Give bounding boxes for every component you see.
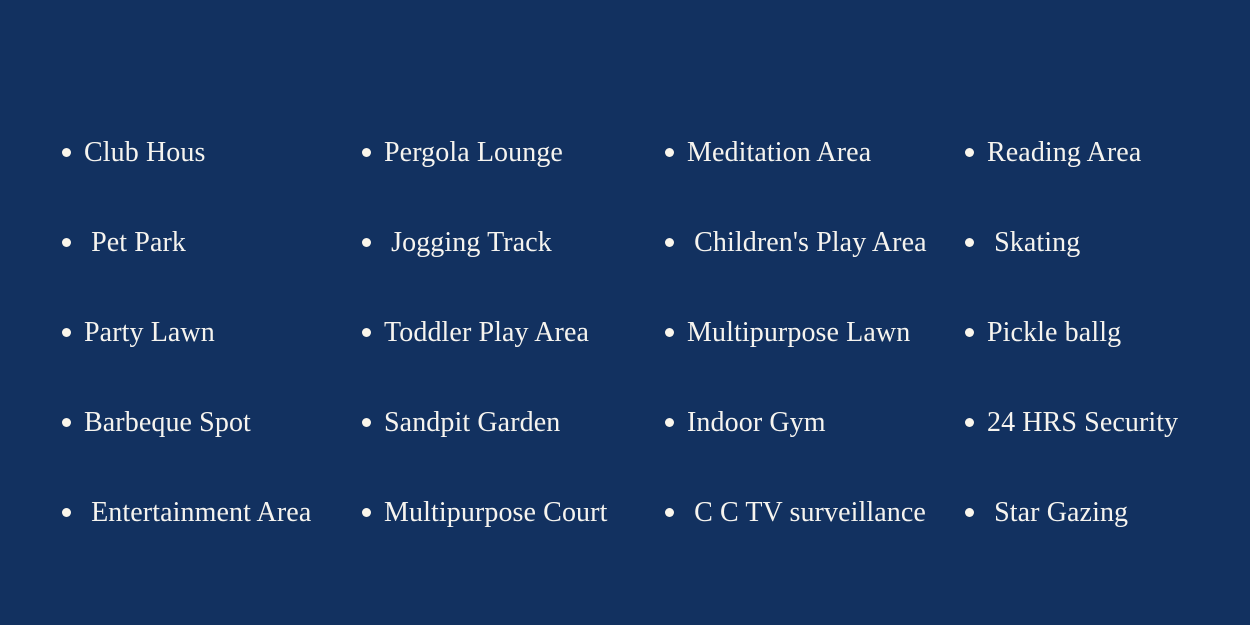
bullet-dot-icon <box>362 328 371 337</box>
list-item: Multipurpose Court <box>362 468 665 558</box>
amenity-label: Skating <box>987 229 1080 257</box>
amenity-label: Pet Park <box>84 229 186 257</box>
list-item: Star Gazing <box>965 468 1237 558</box>
list-item: C C TV surveillance <box>665 468 965 558</box>
bullet-dot-icon <box>362 508 371 517</box>
bullet-dot-icon <box>62 418 71 427</box>
list-item: Toddler Play Area <box>362 288 665 378</box>
bullet-dot-icon <box>665 328 674 337</box>
bullet-dot-icon <box>965 418 974 427</box>
amenity-label: Reading Area <box>987 139 1141 167</box>
list-item: Indoor Gym <box>665 378 965 468</box>
bullet-dot-icon <box>665 148 674 157</box>
list-item: Club Hous <box>62 108 362 198</box>
list-item: Party Lawn <box>62 288 362 378</box>
list-item: Multipurpose Lawn <box>665 288 965 378</box>
amenity-label: C C TV surveillance <box>687 499 926 527</box>
bullet-dot-icon <box>965 148 974 157</box>
bullet-dot-icon <box>665 508 674 517</box>
bullet-dot-icon <box>965 328 974 337</box>
list-item: Reading Area <box>965 108 1237 198</box>
amenity-label: Pergola Lounge <box>384 139 563 167</box>
amenity-label: Multipurpose Court <box>384 499 607 527</box>
amenity-label: Indoor Gym <box>687 409 826 437</box>
bullet-dot-icon <box>62 148 71 157</box>
list-item: 24 HRS Security <box>965 378 1237 468</box>
list-item: Jogging Track <box>362 198 665 288</box>
amenity-label: Jogging Track <box>384 229 552 257</box>
amenity-label: Party Lawn <box>84 319 215 347</box>
amenities-board: Club Hous Pergola Lounge Meditation Area… <box>0 0 1250 625</box>
list-item: Children's Play Area <box>665 198 965 288</box>
amenity-label: Meditation Area <box>687 139 871 167</box>
bullet-dot-icon <box>965 238 974 247</box>
amenity-label: Pickle ballg <box>987 319 1121 347</box>
list-item: Pergola Lounge <box>362 108 665 198</box>
list-item: Barbeque Spot <box>62 378 362 468</box>
list-item: Sandpit Garden <box>362 378 665 468</box>
list-item: Pet Park <box>62 198 362 288</box>
bullet-dot-icon <box>62 328 71 337</box>
list-item: Pickle ballg <box>965 288 1237 378</box>
list-item: Skating <box>965 198 1237 288</box>
bullet-dot-icon <box>362 148 371 157</box>
bullet-dot-icon <box>62 238 71 247</box>
amenity-label: 24 HRS Security <box>987 409 1178 437</box>
amenity-label: Children's Play Area <box>687 229 927 257</box>
bullet-dot-icon <box>665 418 674 427</box>
bullet-dot-icon <box>362 418 371 427</box>
amenity-label: Multipurpose Lawn <box>687 319 910 347</box>
amenity-label: Toddler Play Area <box>384 319 589 347</box>
list-item: Entertainment Area <box>62 468 362 558</box>
amenity-label: Star Gazing <box>987 499 1128 527</box>
amenity-label: Entertainment Area <box>84 499 311 527</box>
bullet-dot-icon <box>62 508 71 517</box>
bullet-dot-icon <box>665 238 674 247</box>
amenity-label: Barbeque Spot <box>84 409 251 437</box>
amenity-label: Club Hous <box>84 139 205 167</box>
list-item: Meditation Area <box>665 108 965 198</box>
amenities-grid: Club Hous Pergola Lounge Meditation Area… <box>0 108 1250 558</box>
bullet-dot-icon <box>965 508 974 517</box>
bullet-dot-icon <box>362 238 371 247</box>
amenity-label: Sandpit Garden <box>384 409 560 437</box>
